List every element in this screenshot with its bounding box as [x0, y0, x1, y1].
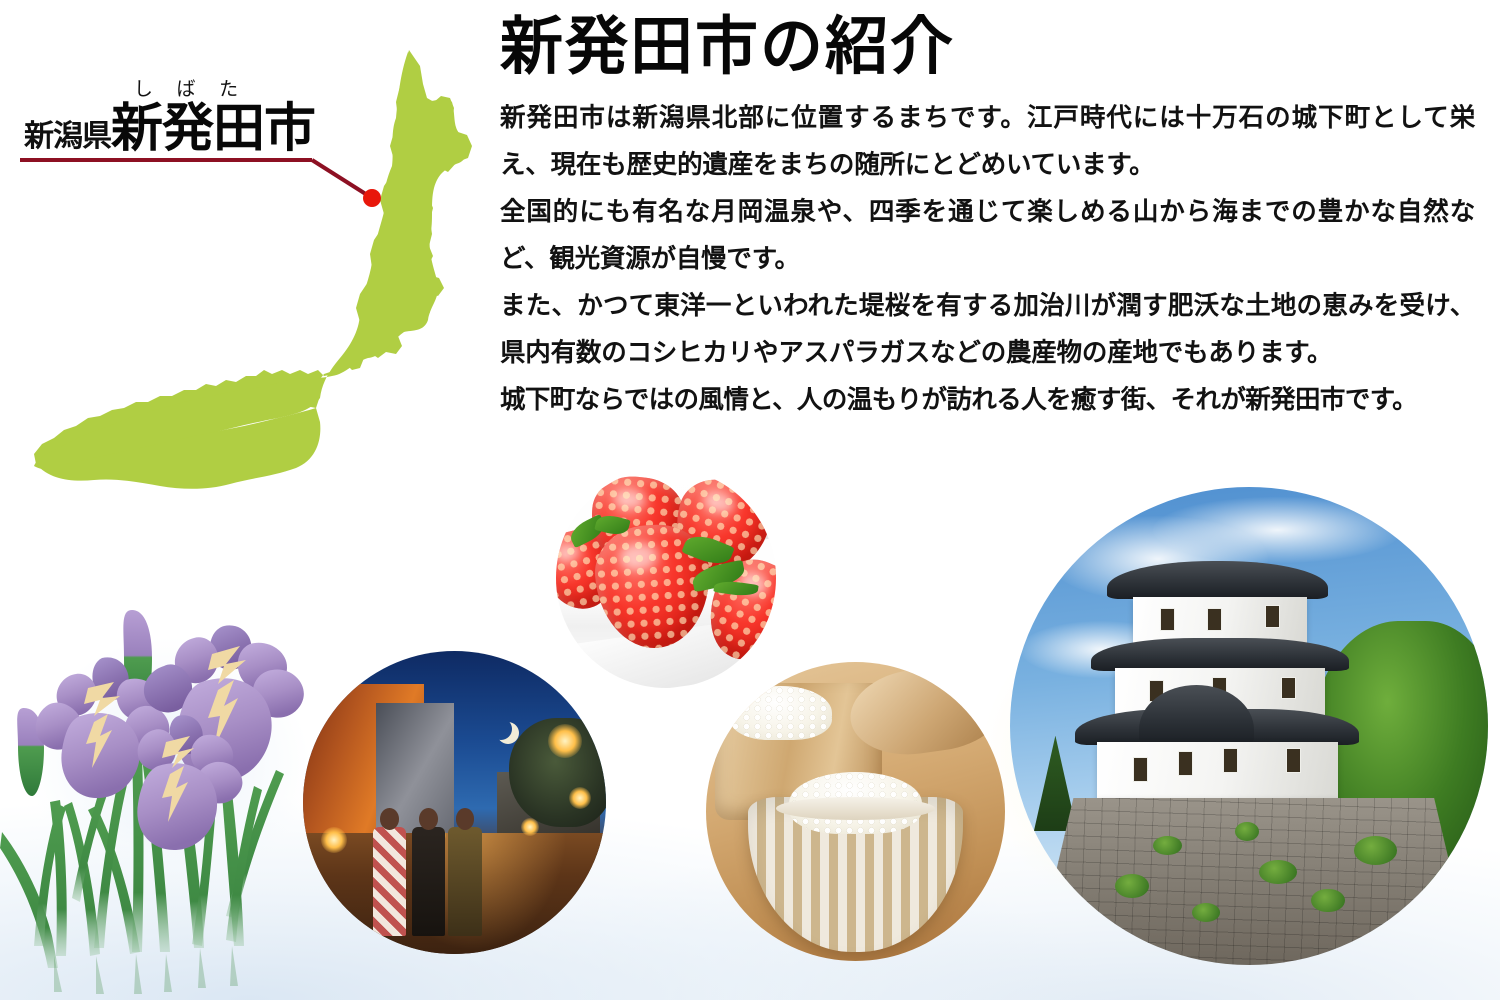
castle-window-mid-3: [1281, 677, 1296, 700]
shibata-city-marker[interactable]: [363, 189, 381, 207]
city-name: 新発田市: [111, 104, 315, 156]
shibata-castle-scene: [1010, 487, 1488, 965]
furigana-char-1: し: [134, 74, 153, 101]
castle-window-low-4: [1286, 748, 1301, 774]
castle-window-top-1: [1160, 608, 1175, 631]
furigana-shibata: し ば た: [122, 74, 250, 101]
poster-canvas: し ば た 新潟県 新発田市 新発田市の紹介 新発田市は新潟県北部に位置するまち…: [0, 0, 1500, 1000]
wall-shrub-6: [1153, 836, 1182, 855]
bowl-rim: [776, 797, 935, 820]
yukata-woman-center: [412, 827, 445, 936]
castle-window-low-3: [1223, 748, 1238, 774]
article-paragraph-2: 全国的にも有名な月岡温泉や、四季を通じて楽しめる山から海までの豊かな自然など、観…: [500, 188, 1475, 282]
onsen-street-photo: [303, 651, 606, 954]
wall-shrub-5: [1354, 836, 1397, 865]
map-label-text-line: 新潟県 新発田市: [24, 104, 315, 156]
wall-shrub-3: [1259, 860, 1297, 884]
rice-bowl-photo: [706, 662, 1005, 961]
wall-shrub-7: [1235, 822, 1259, 841]
castle-window-top-3: [1265, 605, 1280, 628]
page-title: 新発田市の紹介: [500, 14, 1475, 80]
furigana-char-3: た: [219, 74, 238, 101]
iris-leaf: [132, 754, 144, 952]
castle-roof-top: [1107, 561, 1328, 600]
iris-illustration-svg: [0, 596, 330, 1000]
yukata-woman-right: [448, 827, 481, 936]
strawberry-highlight: [613, 487, 646, 510]
yukata-woman-left: [373, 827, 406, 936]
onsen-street-scene: [303, 651, 606, 954]
wall-shrub-4: [1311, 889, 1344, 913]
map-leader-line-diagonal: [312, 160, 372, 198]
prefecture-name: 新潟県: [24, 111, 111, 155]
article-block: 新発田市の紹介 新発田市は新潟県北部に位置するまちです。江戸時代には十万石の城下…: [500, 14, 1475, 423]
castle-window-low-1: [1133, 757, 1148, 783]
strawberry-highlight: [618, 542, 659, 572]
strawberry-highlight: [700, 488, 736, 517]
furigana-char-2: ば: [176, 74, 195, 101]
castle-window-low-2: [1178, 751, 1193, 777]
iris-illustration: [0, 596, 330, 1000]
crescent-moon-icon: [490, 718, 512, 740]
street-lamp-glow-3: [521, 818, 539, 836]
castle-window-top-2: [1207, 608, 1222, 631]
wall-shrub-2: [1192, 903, 1221, 922]
rice-bowl-scene: [706, 662, 1005, 961]
castle-roof-mid: [1091, 638, 1349, 671]
article-paragraph-3: また、かつて東洋一といわれた堤桜を有する加治川が潤す肥沃な土地の恵みを受け、県内…: [500, 282, 1475, 376]
street-lamp-glow-1: [548, 724, 582, 758]
article-paragraph-1: 新発田市は新潟県北部に位置するまちです。江戸時代には十万石の城下町として栄え、現…: [500, 94, 1475, 188]
shibata-castle-photo: [1010, 487, 1488, 965]
iris-water-reflection: [54, 946, 238, 994]
rice-in-container: [730, 686, 832, 740]
article-paragraph-4: 城下町ならではの風情と、人の温もりが訪れる人を癒す街、それが新発田市です。: [500, 376, 1475, 423]
wall-shrub-1: [1115, 874, 1148, 898]
